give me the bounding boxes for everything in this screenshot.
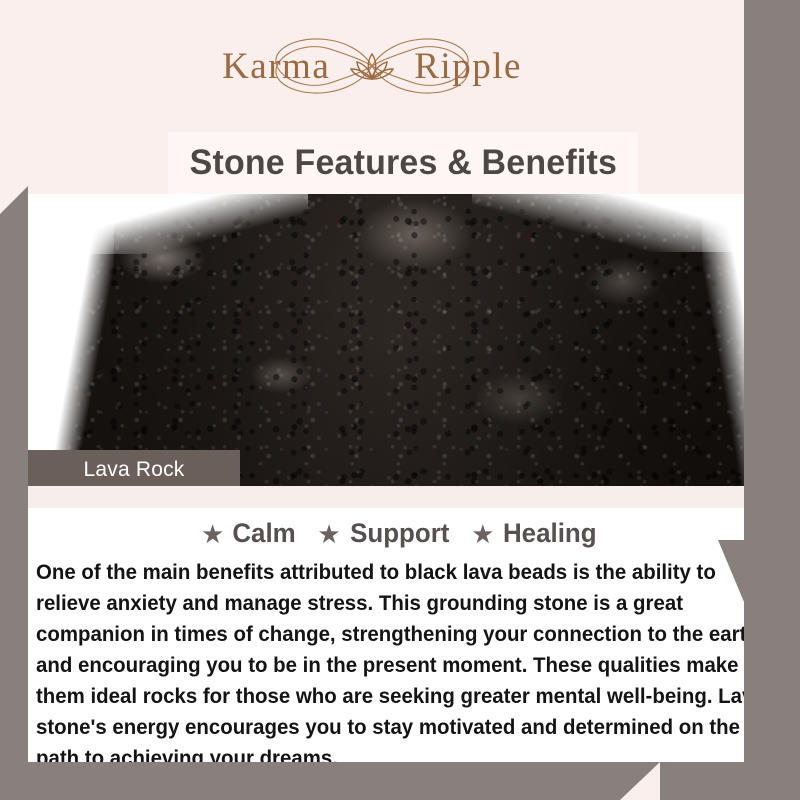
lava-rock-photo (28, 194, 772, 486)
star-icon: ★ (201, 521, 224, 547)
benefit-item-healing: ★ Healing (471, 518, 599, 549)
benefit-label-support: Support (350, 518, 449, 549)
photo-caption-banner: Lava Rock (28, 450, 240, 490)
title-banner: Stone Features & Benefits (168, 132, 638, 194)
photo-caption-label: Lava Rock (83, 458, 184, 482)
star-icon: ★ (471, 521, 494, 547)
star-icon: ★ (317, 521, 340, 547)
page-title: Stone Features & Benefits (189, 143, 616, 183)
brand-logo: Karma Ripple (202, 31, 542, 101)
benefit-label-calm: Calm (233, 518, 296, 549)
frame-notch-bottom-right (620, 762, 660, 800)
frame-notch-right-middle (718, 540, 744, 602)
frame-right-border (744, 0, 800, 800)
frame-notch-left-top (0, 186, 28, 214)
benefit-item-calm: ★ Calm (201, 518, 297, 549)
benefit-item-support: ★ Support (317, 518, 451, 549)
header: Karma Ripple (0, 0, 744, 132)
divider (28, 486, 772, 508)
frame-bottom-border (0, 762, 800, 800)
lotus-icon (349, 49, 395, 83)
content-panel: ★ Calm ★ Support ★ Healing One of the ma… (28, 508, 772, 762)
benefit-label-healing: Healing (503, 518, 597, 549)
frame-left-border (0, 186, 28, 800)
brand-name-left: Karma (222, 48, 330, 85)
photo-mask-left (28, 194, 114, 486)
benefits-row: ★ Calm ★ Support ★ Healing (28, 518, 772, 549)
description-text: One of the main benefits attributed to b… (36, 557, 777, 774)
brand-name-right: Ripple (414, 48, 522, 85)
infographic-card: Karma Ripple Stone Features & Benefits (0, 0, 800, 800)
